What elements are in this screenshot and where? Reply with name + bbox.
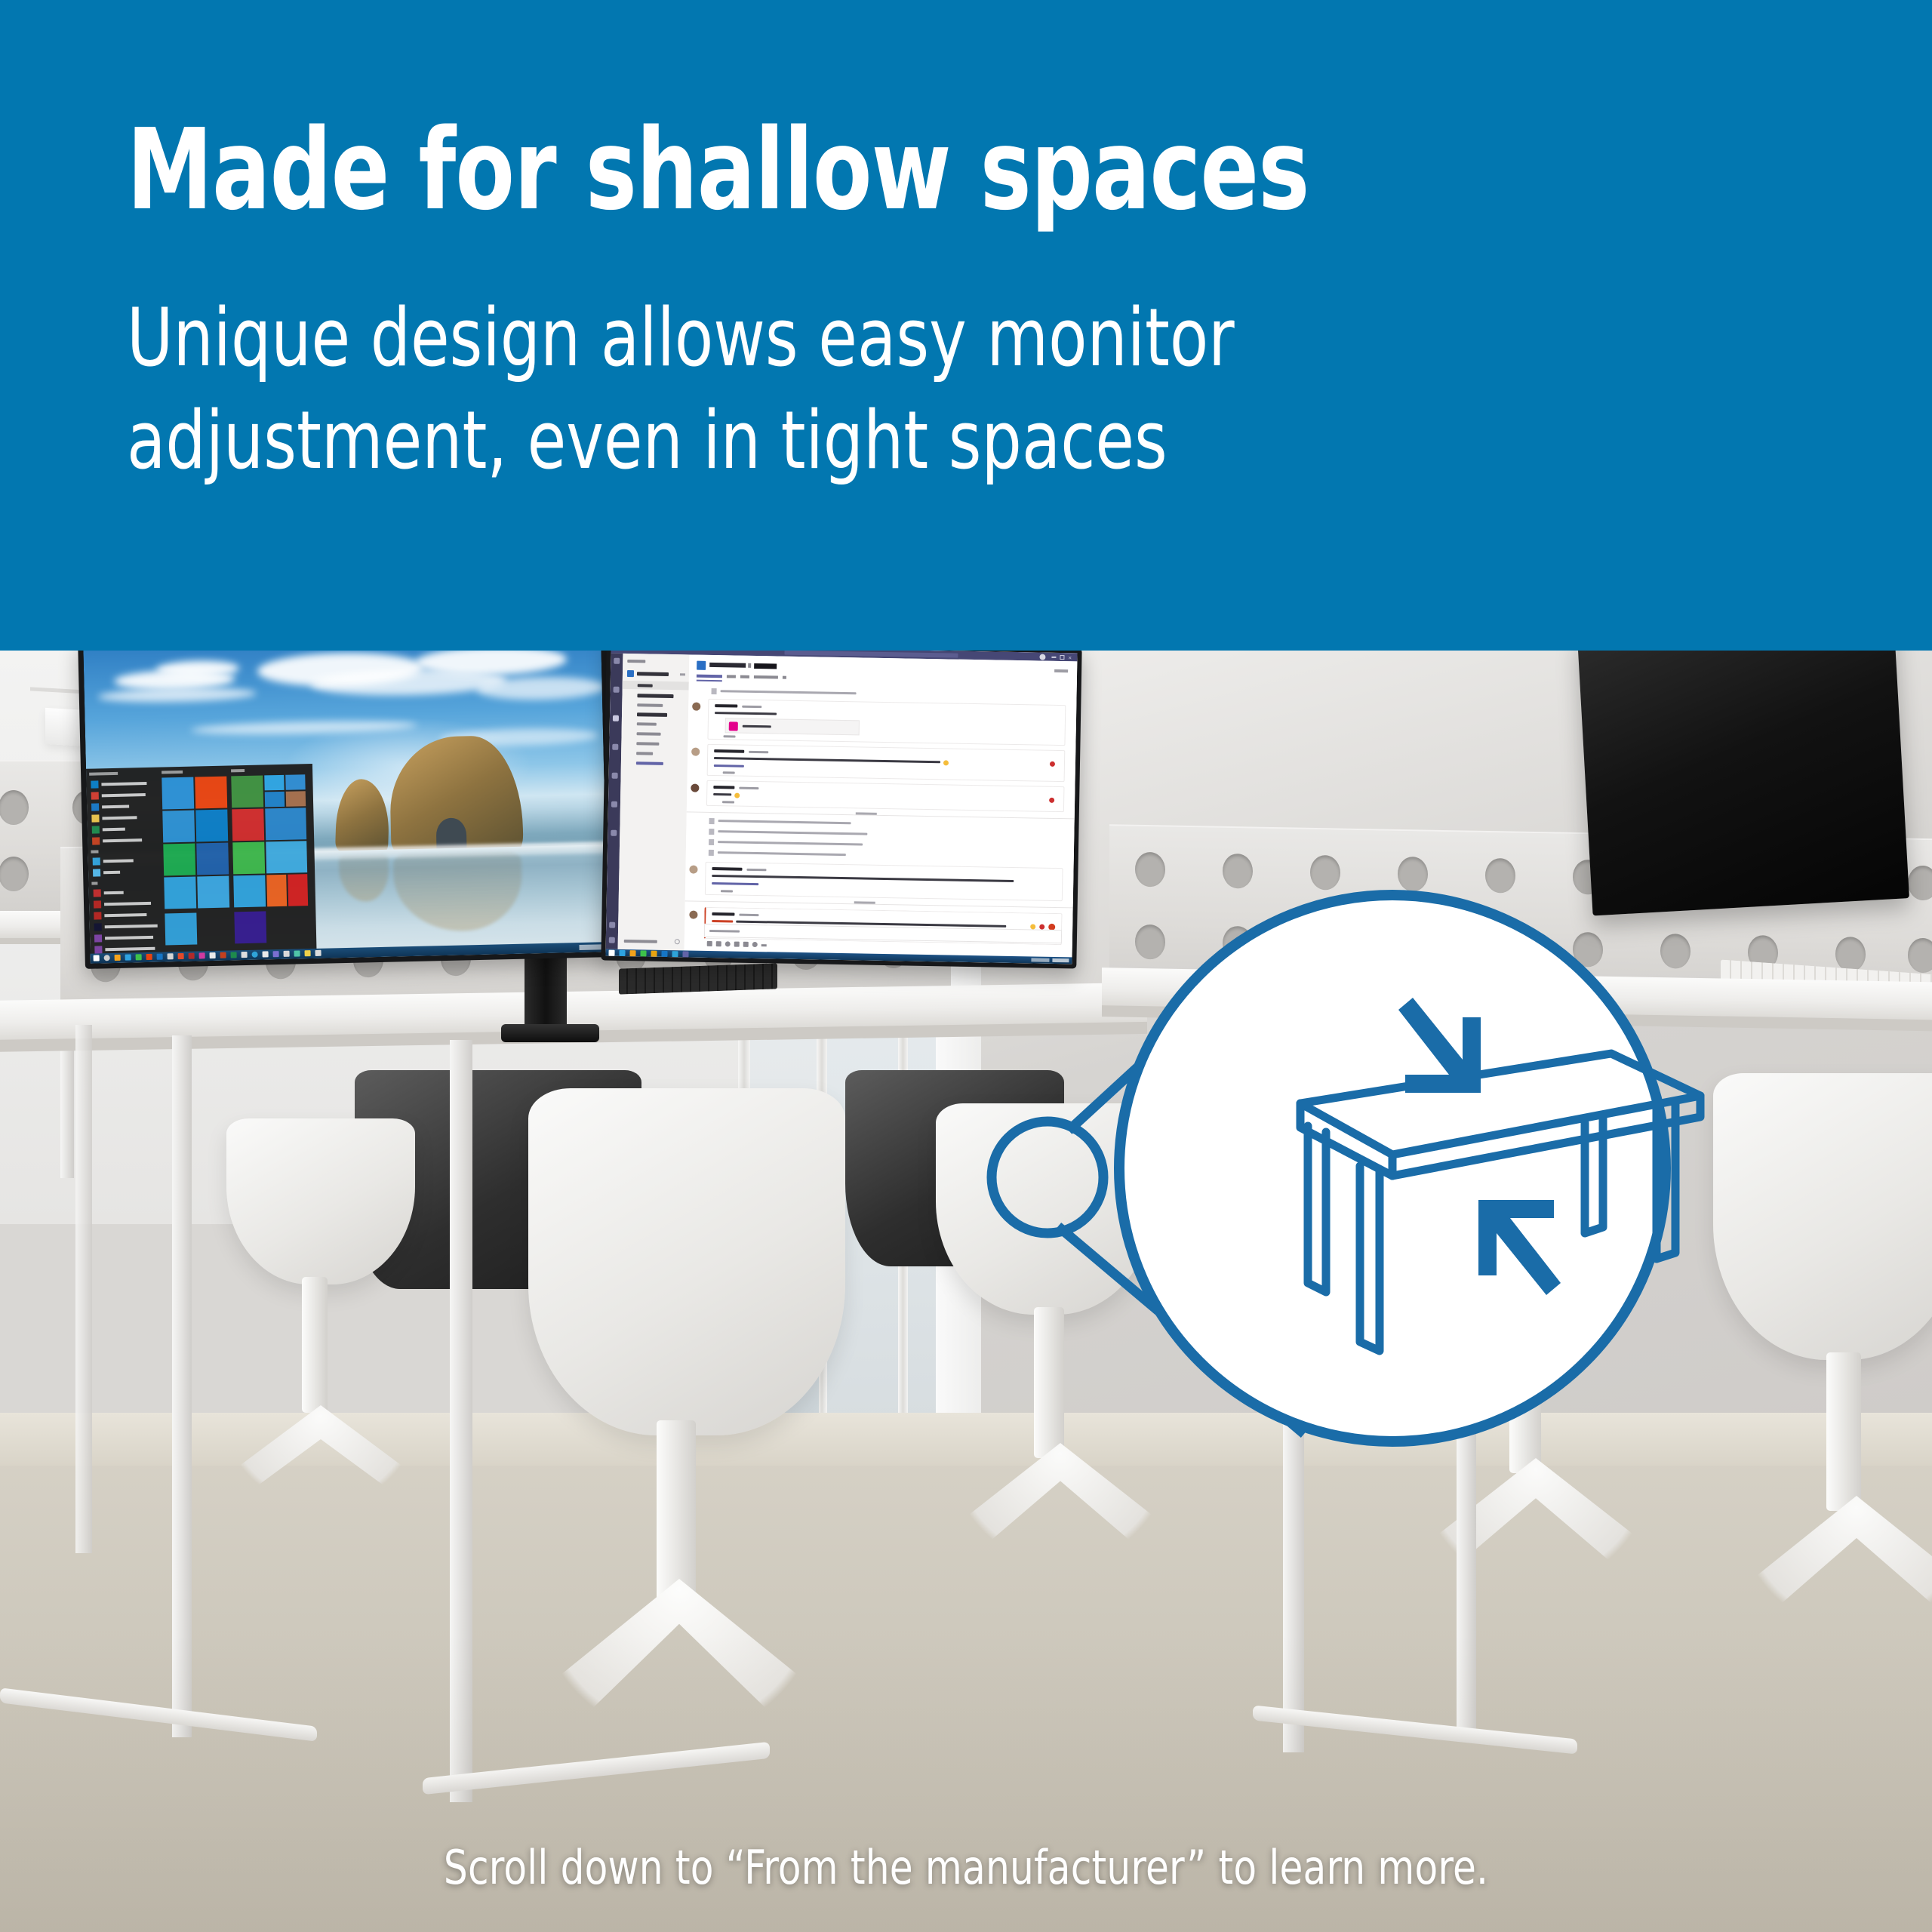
sidebar-header-your-teams bbox=[627, 660, 645, 663]
message-author-3 bbox=[713, 786, 734, 789]
tile-people[interactable] bbox=[286, 791, 306, 807]
system-icon-5 bbox=[709, 850, 714, 856]
more-options-icon[interactable] bbox=[761, 944, 767, 946]
onenote-icon bbox=[729, 721, 738, 731]
activity-icon[interactable] bbox=[614, 658, 620, 664]
chair-right-2 bbox=[1404, 1103, 1638, 1322]
tab-active-underline bbox=[697, 680, 722, 682]
channel-active-highlight bbox=[623, 681, 689, 691]
chat-icon[interactable] bbox=[614, 687, 620, 693]
start-group-life bbox=[162, 771, 183, 774]
teams-conversation-pane bbox=[685, 654, 1078, 957]
reply-link-2[interactable] bbox=[723, 771, 735, 774]
message-time-4 bbox=[746, 869, 766, 871]
message-time-1 bbox=[742, 706, 761, 708]
maximize-icon[interactable] bbox=[1060, 655, 1064, 660]
tile-xbox[interactable] bbox=[231, 775, 263, 808]
system-message-5 bbox=[718, 851, 846, 856]
subtitle-line-1: Unique design allows easy monitor bbox=[127, 287, 1455, 389]
right-monitor: × bbox=[601, 651, 1081, 968]
channel-content-marketing[interactable] bbox=[637, 694, 673, 698]
chair-right-1 bbox=[936, 1103, 1155, 1315]
message-card-training-videos[interactable] bbox=[725, 718, 860, 735]
tile-pdf[interactable] bbox=[288, 874, 308, 906]
tile-edge[interactable] bbox=[195, 810, 228, 842]
channel-resources[interactable] bbox=[637, 722, 657, 725]
avatar-alison-nell bbox=[691, 784, 699, 792]
tile-movies[interactable] bbox=[196, 843, 229, 875]
message-author-1 bbox=[715, 704, 737, 708]
message-time-5 bbox=[739, 914, 758, 916]
reply-link-4[interactable] bbox=[721, 890, 733, 892]
reaction-heart-3[interactable] bbox=[1049, 798, 1054, 803]
tile-news[interactable] bbox=[265, 792, 285, 808]
help-icon[interactable] bbox=[609, 922, 615, 928]
thread-replies-4[interactable] bbox=[712, 882, 758, 885]
files-icon[interactable] bbox=[611, 830, 617, 836]
compose-placeholder bbox=[709, 930, 740, 933]
chair-center-column bbox=[657, 1420, 696, 1601]
tile-powerpoint[interactable] bbox=[266, 875, 287, 907]
emoji-icon[interactable] bbox=[725, 941, 731, 946]
product-marketing-image: Made for shallow spaces Unique design al… bbox=[0, 0, 1932, 1932]
channel-training[interactable] bbox=[636, 752, 653, 755]
channel-paid-campaigns[interactable] bbox=[637, 703, 663, 707]
thread-replies-2[interactable] bbox=[714, 764, 744, 768]
channel-general[interactable] bbox=[638, 684, 653, 687]
chair-right-3-column bbox=[1826, 1352, 1861, 1511]
tab-conversations[interactable] bbox=[697, 675, 722, 678]
meet-now-icon[interactable] bbox=[752, 942, 758, 947]
monitor-arm-clamp bbox=[501, 1024, 599, 1042]
calls-icon[interactable] bbox=[611, 801, 617, 808]
right-monitor-screen[interactable]: × bbox=[605, 651, 1077, 964]
avatar-schuldeiss-joe bbox=[691, 748, 700, 756]
system-icon-4 bbox=[709, 839, 714, 845]
header-banner: Made for shallow spaces Unique design al… bbox=[0, 0, 1932, 651]
join-create-team-button[interactable] bbox=[624, 940, 657, 943]
office-scene-photo: × bbox=[0, 651, 1932, 1932]
teams-app: × bbox=[605, 651, 1077, 964]
teams-avatar[interactable] bbox=[1039, 654, 1045, 660]
tab-wiki[interactable] bbox=[740, 675, 749, 678]
team-more-icon[interactable] bbox=[680, 673, 685, 675]
settings-gear-icon[interactable] bbox=[675, 939, 680, 944]
tile-onenote[interactable] bbox=[232, 841, 265, 874]
channel-header-avatar bbox=[697, 661, 706, 670]
reply-link-3[interactable] bbox=[722, 801, 734, 803]
tile-groove[interactable] bbox=[163, 844, 195, 876]
team-avatar-global-marketing bbox=[627, 670, 634, 677]
store-icon[interactable] bbox=[609, 937, 615, 943]
close-icon[interactable]: × bbox=[1068, 655, 1073, 660]
system-message-3 bbox=[718, 830, 867, 835]
sticker-icon[interactable] bbox=[743, 942, 749, 947]
start-section-most-used bbox=[89, 772, 118, 776]
chair-right-2-column bbox=[1509, 1315, 1541, 1473]
tile-msn-news[interactable] bbox=[232, 808, 264, 841]
date-divider-2-text bbox=[854, 901, 875, 903]
mention-joe-emily[interactable] bbox=[712, 920, 733, 922]
emoji-thumbsup-2 bbox=[943, 760, 949, 765]
channel-sharepoint-site[interactable] bbox=[637, 732, 661, 736]
desk-leg-4 bbox=[1457, 1025, 1476, 1734]
chair-left-column bbox=[302, 1277, 328, 1413]
avatar-kerry-mott bbox=[692, 703, 700, 711]
teams-channel-sidebar bbox=[618, 654, 690, 950]
message-text-2 bbox=[714, 757, 940, 763]
message-text-1 bbox=[715, 712, 777, 715]
tab-training-videos[interactable] bbox=[754, 675, 778, 679]
bottom-caption: Scroll down to “From the manufacturer” t… bbox=[0, 1840, 1932, 1895]
message-time-3 bbox=[739, 787, 758, 789]
tile-sticky-notes[interactable] bbox=[165, 913, 197, 946]
avatar-schuldeiss-joe-2 bbox=[689, 865, 697, 873]
reply-link-1[interactable] bbox=[724, 735, 736, 737]
tile-store[interactable] bbox=[233, 875, 266, 907]
chair-center-foreground bbox=[528, 1088, 845, 1435]
tile-security[interactable] bbox=[265, 808, 306, 840]
tile-office[interactable] bbox=[195, 777, 227, 809]
tile-drawtogether[interactable] bbox=[266, 841, 307, 873]
tile-mail[interactable] bbox=[264, 775, 284, 791]
tile-skype[interactable] bbox=[164, 877, 196, 909]
message-author-2 bbox=[714, 749, 744, 753]
date-divider-line-1 bbox=[687, 811, 1075, 819]
start-group-play bbox=[231, 769, 245, 772]
tile-solitaire[interactable] bbox=[234, 911, 266, 943]
system-icon-1 bbox=[712, 688, 717, 694]
rock-small bbox=[335, 778, 390, 852]
breadcrumb-channel-label bbox=[754, 663, 777, 669]
card-title-training-videos bbox=[743, 725, 771, 728]
systray-icons[interactable] bbox=[1031, 958, 1049, 961]
breadcrumb-separator bbox=[748, 663, 751, 668]
subtitle-line-2: adjustment, even in tight spaces bbox=[127, 389, 1455, 492]
system-icon-2 bbox=[709, 818, 715, 824]
reaction-heart-2[interactable] bbox=[1050, 761, 1055, 767]
message-text-4 bbox=[712, 875, 1014, 882]
chair-right-3 bbox=[1713, 1073, 1932, 1360]
breadcrumb-team-label bbox=[709, 663, 746, 668]
left-monitor bbox=[78, 651, 614, 969]
format-icon[interactable] bbox=[707, 941, 712, 946]
tile-weather[interactable] bbox=[285, 774, 305, 790]
message-card-3 bbox=[706, 780, 1065, 812]
windows-start-menu[interactable] bbox=[86, 764, 317, 955]
tile-calendar[interactable] bbox=[162, 777, 194, 810]
message-card-1 bbox=[707, 699, 1066, 746]
desk-leg-5 bbox=[75, 1025, 92, 1553]
system-message-2 bbox=[718, 820, 851, 824]
tab-add-icon[interactable] bbox=[783, 676, 786, 679]
message-author-5 bbox=[712, 912, 734, 916]
page-title: Made for shallow spaces bbox=[127, 113, 1490, 227]
avatar-kerry-mott-2 bbox=[689, 911, 697, 919]
channel-product-launches[interactable] bbox=[637, 712, 667, 717]
message-author-4 bbox=[712, 867, 742, 871]
system-message-1 bbox=[721, 690, 857, 694]
assignments-icon[interactable] bbox=[612, 744, 618, 750]
left-monitor-screen[interactable] bbox=[83, 651, 608, 964]
tile-paint3d[interactable] bbox=[197, 876, 229, 909]
tab-files[interactable] bbox=[727, 675, 736, 678]
message-card-4 bbox=[705, 862, 1063, 901]
chair-right-1-column bbox=[1034, 1307, 1064, 1458]
teams-icon[interactable] bbox=[613, 715, 619, 721]
calendar-icon[interactable] bbox=[612, 773, 618, 779]
minimize-icon[interactable] bbox=[1051, 657, 1056, 658]
channel-social-media[interactable] bbox=[636, 742, 659, 746]
tile-photos[interactable] bbox=[162, 811, 195, 843]
hidden-channels-link[interactable] bbox=[636, 761, 663, 765]
message-time-2 bbox=[749, 751, 768, 753]
taskbar-clock-right bbox=[1052, 958, 1069, 962]
rear-monitor-black bbox=[1577, 651, 1909, 915]
system-message-4 bbox=[718, 841, 863, 845]
message-text-3 bbox=[713, 793, 731, 795]
emoji-thumbsup-3 bbox=[734, 793, 740, 798]
page-subtitle: Unique design allows easy monitor adjust… bbox=[127, 287, 1455, 491]
chair-left bbox=[226, 1118, 415, 1284]
team-name-global-marketing[interactable] bbox=[637, 672, 669, 676]
attach-icon[interactable] bbox=[716, 941, 721, 946]
system-icon-3 bbox=[709, 829, 714, 835]
bottom-caption-text: Scroll down to “From the manufacturer” t… bbox=[444, 1840, 1488, 1895]
date-divider-1-text bbox=[856, 812, 877, 814]
private-badge bbox=[1054, 669, 1068, 672]
message-card-2 bbox=[707, 744, 1066, 782]
giphy-icon[interactable] bbox=[734, 942, 740, 947]
